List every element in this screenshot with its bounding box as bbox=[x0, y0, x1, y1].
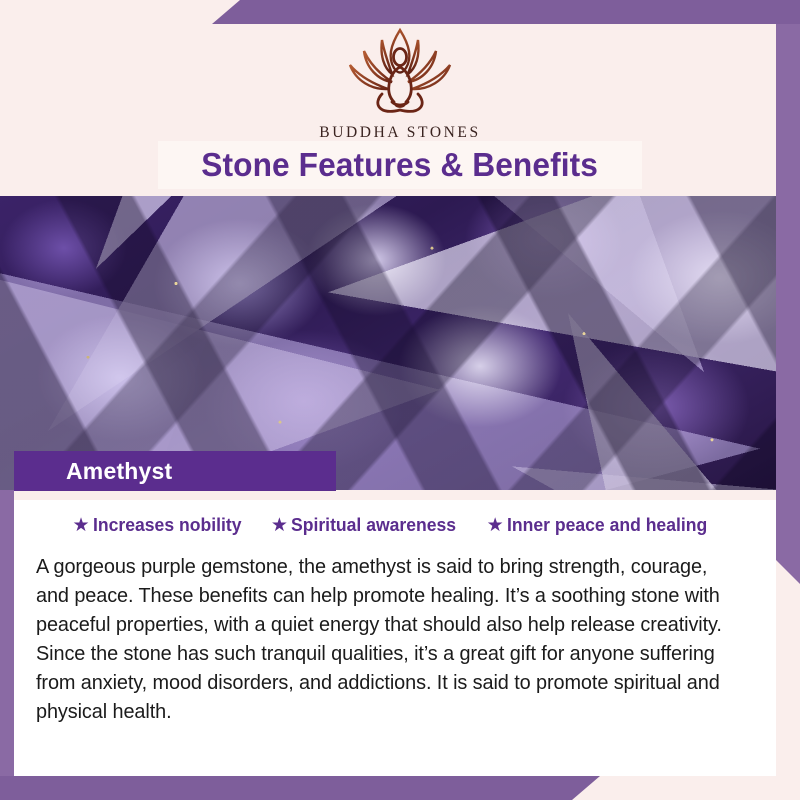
photo-sparkle-layer bbox=[0, 195, 800, 490]
page-title: Stone Features & Benefits bbox=[158, 141, 642, 189]
frame-strip-left bbox=[0, 490, 14, 776]
benefit-item: ★ Spiritual awareness bbox=[271, 514, 465, 536]
benefits-list: ★ Increases nobility ★ Spiritual awarene… bbox=[14, 514, 776, 536]
star-icon: ★ bbox=[487, 516, 504, 535]
benefit-label: Spiritual awareness bbox=[291, 514, 456, 536]
benefit-label: Increases nobility bbox=[93, 514, 241, 536]
benefit-label: Inner peace and healing bbox=[507, 514, 707, 536]
frame-band-top bbox=[212, 0, 800, 24]
brand-logo: BUDDHA STONES bbox=[0, 24, 800, 142]
content-card: ★ Increases nobility ★ Spiritual awarene… bbox=[14, 490, 776, 776]
stone-name-label: Amethyst bbox=[66, 458, 172, 485]
stone-benefits-poster: BUDDHA STONES Stone Features & Benefits … bbox=[0, 0, 800, 800]
lotus-meditation-icon bbox=[330, 24, 470, 122]
frame-band-bottom bbox=[0, 776, 600, 800]
brand-name: BUDDHA STONES bbox=[0, 124, 800, 142]
page-title-text: Stone Features & Benefits bbox=[202, 146, 599, 184]
star-icon: ★ bbox=[73, 516, 90, 535]
benefit-item: ★ Increases nobility bbox=[73, 514, 249, 536]
stone-description: A gorgeous purple gemstone, the amethyst… bbox=[36, 552, 744, 726]
amethyst-crystal-photo bbox=[0, 195, 800, 490]
benefit-item: ★ Inner peace and healing bbox=[487, 514, 718, 536]
stone-name-banner: Amethyst bbox=[14, 451, 336, 491]
frame-strip-right bbox=[776, 24, 800, 584]
poster-header: BUDDHA STONES Stone Features & Benefits bbox=[0, 0, 800, 196]
star-icon: ★ bbox=[271, 516, 288, 535]
